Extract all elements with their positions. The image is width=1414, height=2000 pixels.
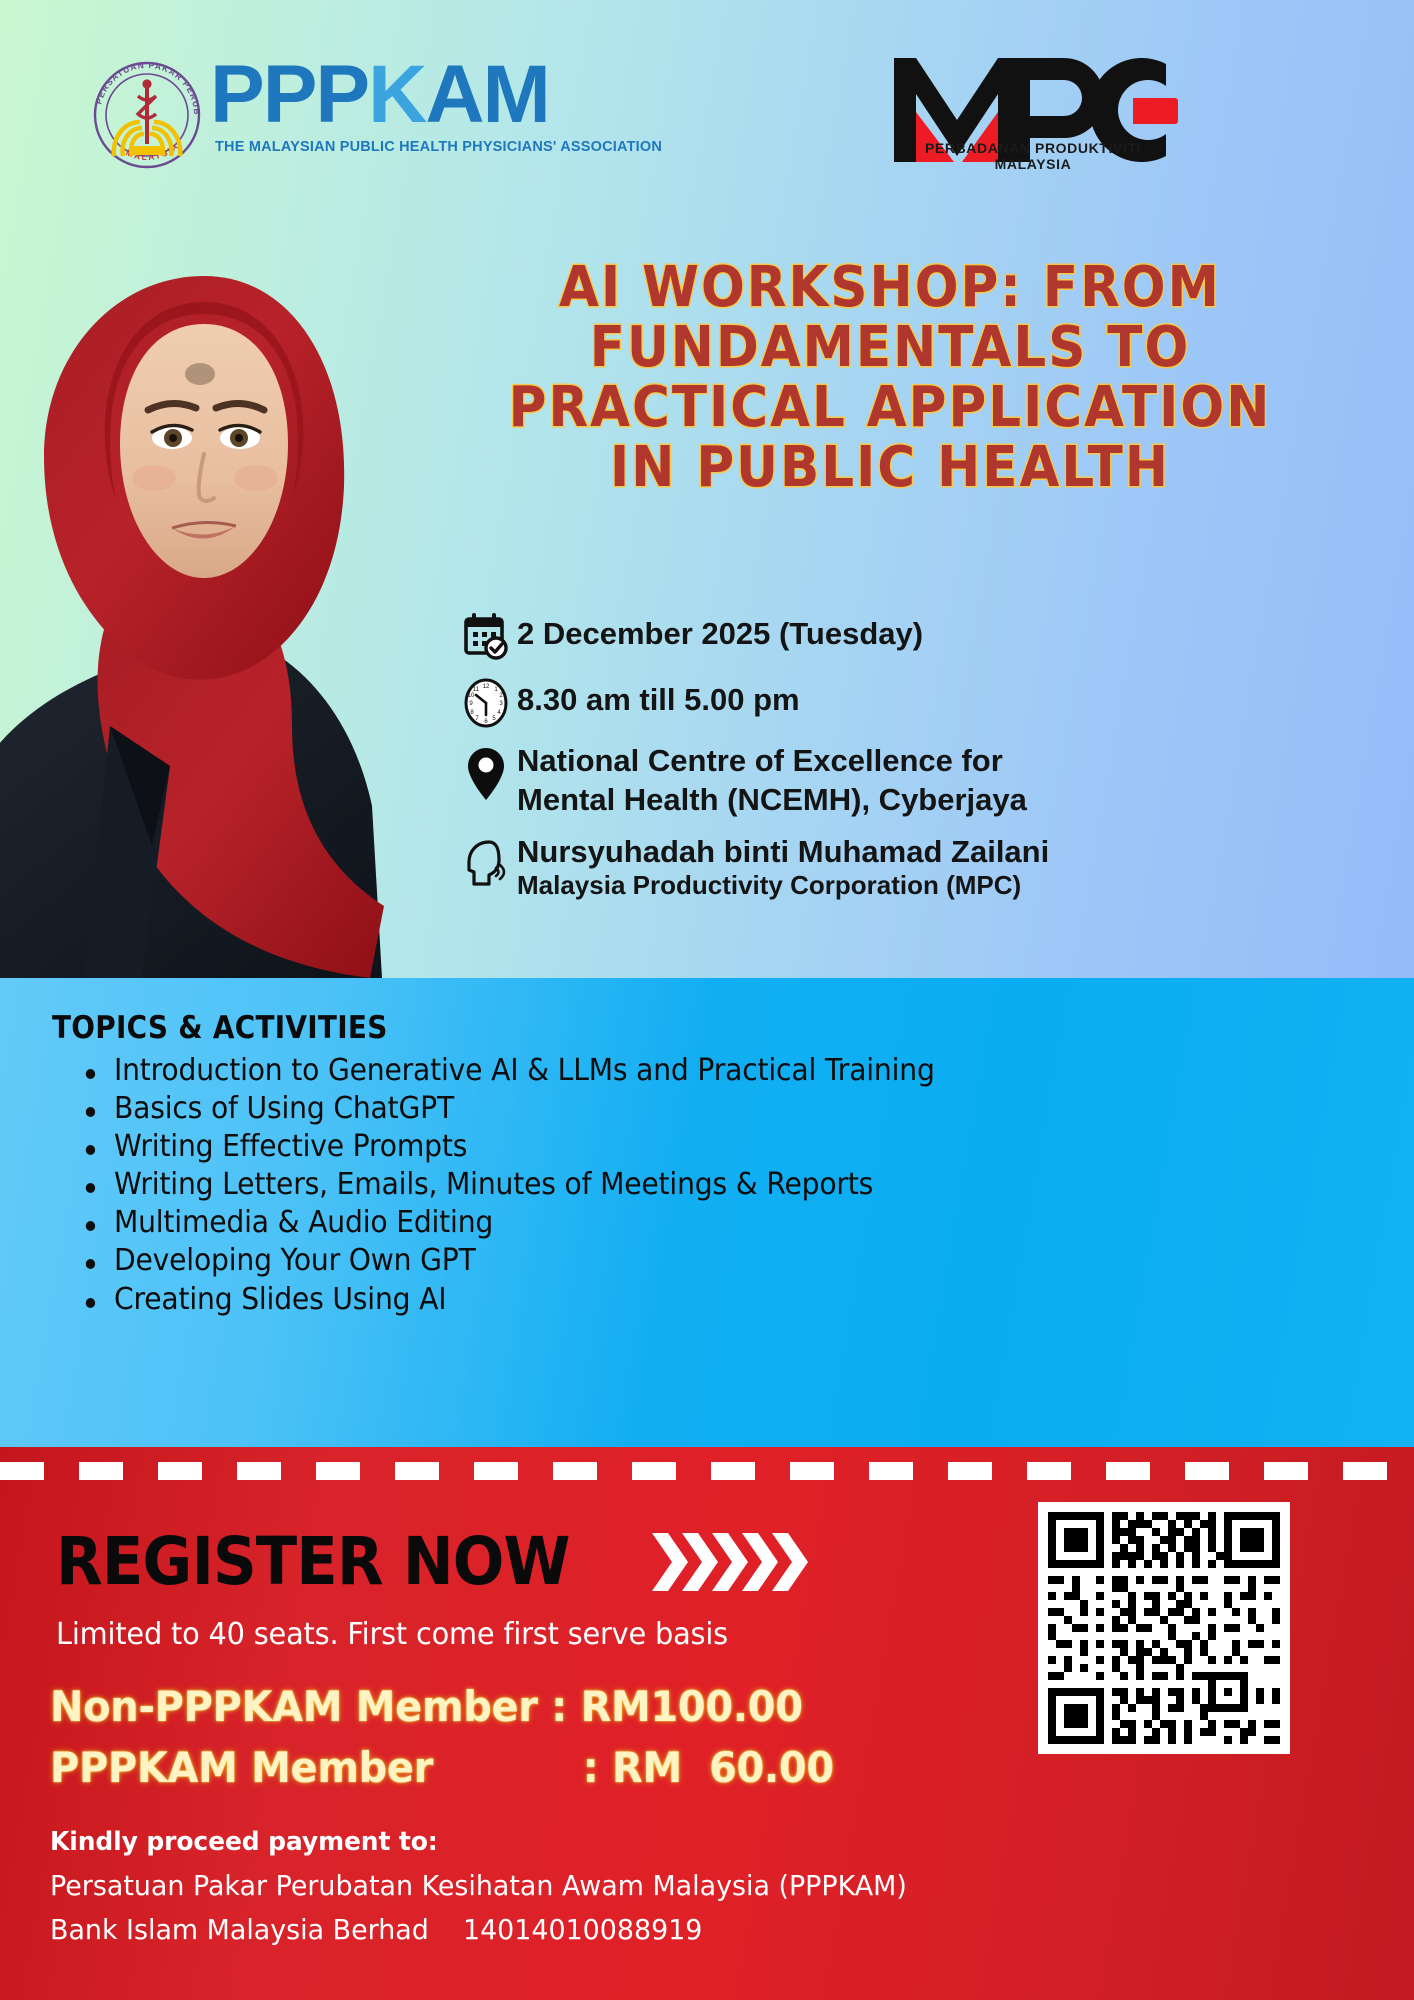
register-section: REGISTER NOW Limited to 40 seats. First … <box>0 1447 1414 2000</box>
topic-item: Creating Slides Using AI <box>82 1281 1334 1319</box>
detail-date: 2 December 2025 (Tuesday) <box>517 608 923 652</box>
pppkam-tagline: THE MALAYSIAN PUBLIC HEALTH PHYSICIANS' … <box>215 139 662 155</box>
pppkam-logo: PERSATUAN PAKAR PERUBATAN KESIHATAN AWAM… <box>88 56 662 174</box>
location-pin-icon <box>455 742 517 802</box>
svg-text:11: 11 <box>473 687 480 693</box>
detail-row-speaker: Nursyuhadah binti Muhamad Zailani Malays… <box>455 834 1395 902</box>
topic-item: Developing Your Own GPT <box>82 1242 1334 1280</box>
limited-seats-note: Limited to 40 seats. First come first se… <box>56 1617 728 1652</box>
title-line-3: PRACTICAL APPLICATION <box>430 378 1350 438</box>
pppkam-word-am: AM <box>425 49 549 140</box>
detail-venue-line2: Mental Health (NCEMH), Cyberjaya <box>517 781 1027 820</box>
detail-speaker-name: Nursyuhadah binti Muhamad Zailani <box>517 834 1049 871</box>
topic-item: Writing Letters, Emails, Minutes of Meet… <box>82 1166 1334 1204</box>
detail-venue-line1: National Centre of Excellence for <box>517 742 1027 781</box>
payment-payee: Persatuan Pakar Perubatan Kesihatan Awam… <box>50 1869 907 1902</box>
svg-text:10: 10 <box>468 693 475 699</box>
payment-heading: Kindly proceed payment to: <box>50 1827 438 1857</box>
registration-qr-code[interactable] <box>1038 1502 1290 1754</box>
speaker-head-icon <box>455 834 517 890</box>
calendar-icon <box>455 608 517 660</box>
detail-row-date: 2 December 2025 (Tuesday) <box>455 608 1395 660</box>
price-member: PPPKAM Member : RM 60.00 <box>50 1743 834 1792</box>
header-logos: PERSATUAN PAKAR PERUBATAN KESIHATAN AWAM… <box>0 0 1414 200</box>
detail-speaker: Nursyuhadah binti Muhamad Zailani Malays… <box>517 834 1049 902</box>
chevrons-icon <box>652 1527 822 1597</box>
topics-list: Introduction to Generative AI & LLMs and… <box>52 1052 1414 1319</box>
register-cta-row[interactable]: REGISTER NOW <box>56 1523 822 1600</box>
event-details: 2 December 2025 (Tuesday) 12369 1245 781… <box>455 608 1395 915</box>
clock-icon: 12369 1245 781011 <box>455 674 517 728</box>
pppkam-word-ppp: PPP <box>210 49 368 140</box>
detail-speaker-org: Malaysia Productivity Corporation (MPC) <box>517 870 1049 901</box>
svg-text:12: 12 <box>483 684 490 690</box>
topic-item: Writing Effective Prompts <box>82 1128 1334 1166</box>
detail-row-venue: National Centre of Excellence for Mental… <box>455 742 1395 820</box>
topics-section: TOPICS & ACTIVITIES Introduction to Gene… <box>0 978 1414 1448</box>
poster-title: AI WORKSHOP: FROM FUNDAMENTALS TO PRACTI… <box>430 258 1350 498</box>
speaker-portrait <box>0 206 422 978</box>
topic-item: Multimedia & Audio Editing <box>82 1204 1334 1242</box>
title-line-1: AI WORKSHOP: FROM <box>430 258 1350 318</box>
topic-item: Basics of Using ChatGPT <box>82 1090 1334 1128</box>
detail-venue: National Centre of Excellence for Mental… <box>517 742 1027 820</box>
detail-time: 8.30 am till 5.00 pm <box>517 674 800 718</box>
topic-item: Introduction to Generative AI & LLMs and… <box>82 1052 1334 1090</box>
pppkam-wordmark: PPPKAM THE MALAYSIAN PUBLIC HEALTH PHYSI… <box>210 56 662 155</box>
poster-root: PERSATUAN PAKAR PERUBATAN KESIHATAN AWAM… <box>0 0 1414 2000</box>
title-line-4: IN PUBLIC HEALTH <box>430 438 1350 498</box>
register-now-label: REGISTER NOW <box>56 1523 570 1600</box>
pppkam-word-k: K <box>368 49 425 140</box>
payment-bank-account: Bank Islam Malaysia Berhad 1401401008891… <box>50 1913 702 1946</box>
price-non-member: Non-PPPKAM Member : RM100.00 <box>50 1682 803 1731</box>
topics-heading: TOPICS & ACTIVITIES <box>52 1010 1278 1046</box>
detail-row-time: 12369 1245 781011 8.30 am till 5.00 pm <box>455 674 1395 728</box>
pppkam-seal-icon: PERSATUAN PAKAR PERUBATAN KESIHATAN AWAM… <box>88 56 206 174</box>
title-line-2: FUNDAMENTALS TO <box>430 318 1350 378</box>
mpc-subtitle: PERBADANAN PRODUKTIVITI MALAYSIA <box>888 140 1178 172</box>
dashed-divider <box>0 1462 1414 1480</box>
